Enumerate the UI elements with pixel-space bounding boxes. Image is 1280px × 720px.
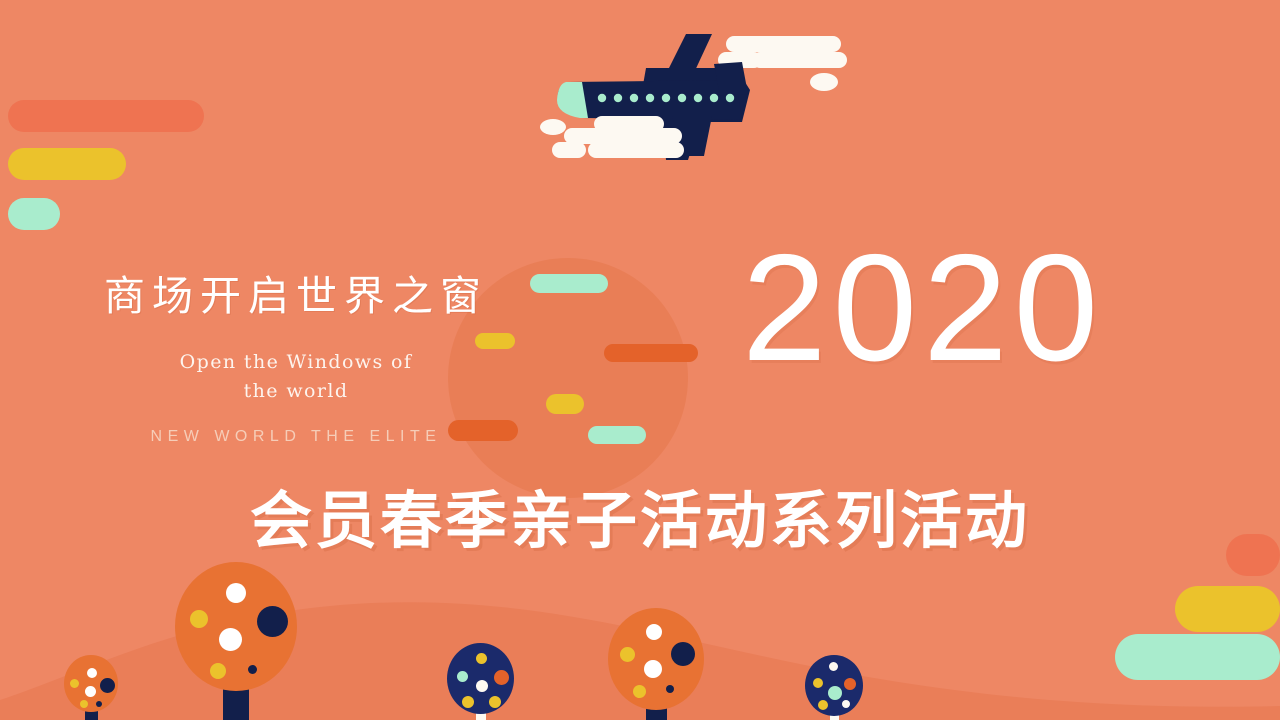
circle-pill-mint-top [530, 274, 608, 293]
tree-4-orange [608, 608, 704, 720]
tree-ornament-dot [818, 700, 828, 710]
circle-pill-mint-bottom [588, 426, 646, 444]
tree-ornament-dot [844, 678, 856, 690]
tree-ornament-dot [666, 685, 674, 693]
headline-chinese: 商场开启世界之窗 [96, 262, 496, 322]
tree-ornament-dot [829, 662, 838, 671]
tree-ornament-dot [190, 610, 208, 628]
tree-5-navy [805, 655, 863, 720]
bottom-right-pill-yellow [1175, 586, 1280, 632]
tree-ornament-dot [96, 701, 102, 707]
headline-english-line2: the world [96, 377, 496, 406]
tree-canopy [805, 655, 863, 716]
tree-ornament-dot [842, 700, 850, 708]
tree-ornament-dot [633, 685, 646, 698]
tree-ornament-dot [644, 660, 662, 678]
bottom-right-pill-mint [1115, 634, 1280, 680]
tree-ornament-dot [462, 696, 474, 708]
tree-ornament-dot [219, 628, 242, 651]
headline-block: 商场开启世界之窗 Open the Windows of the world N… [96, 262, 496, 446]
airplane-illustration [536, 24, 866, 174]
circle-pill-orange-right [604, 344, 698, 362]
year-label: 2020 [742, 232, 1104, 384]
tree-ornament-dot [646, 624, 662, 640]
cloud-lower [540, 116, 684, 158]
airplane-windows [598, 94, 734, 102]
tree-ornament-dot [813, 678, 823, 688]
headline-tagline: NEW WORLD THE ELITE [96, 428, 496, 446]
tree-ornament-dot [248, 665, 257, 674]
headline-english: Open the Windows of the world [96, 348, 496, 406]
top-left-pill-salmon [8, 100, 204, 132]
tree-ornament-dot [476, 680, 488, 692]
tree-ornament-dot [457, 671, 468, 682]
tree-ornament-dot [476, 653, 487, 664]
tree-canopy [175, 562, 297, 691]
tree-ornament-dot [85, 686, 96, 697]
tree-ornament-dot [494, 670, 509, 685]
tree-ornament-dot [828, 686, 842, 700]
tree-ornament-dot [620, 647, 635, 662]
tree-1-small-orange [64, 655, 118, 720]
tree-canopy [64, 655, 118, 712]
tree-ornament-dot [257, 606, 288, 637]
tree-ornament-dot [100, 678, 115, 693]
tree-ornament-dot [671, 642, 695, 666]
tree-ornament-dot [226, 583, 246, 603]
tree-ornament-dot [70, 679, 79, 688]
tree-ornament-dot [210, 663, 226, 679]
top-left-pill-mint [8, 198, 60, 230]
circle-pill-yellow-mid [546, 394, 584, 414]
tree-ornament-dot [87, 668, 97, 678]
tree-canopy [608, 608, 704, 710]
tree-ornament-dot [489, 696, 501, 708]
main-title: 会员春季亲子活动系列活动 [0, 470, 1280, 560]
headline-english-line1: Open the Windows of [96, 348, 496, 377]
tree-ornament-dot [80, 700, 88, 708]
tree-3-navy [447, 643, 514, 720]
tree-2-large-orange [175, 562, 297, 720]
poster-slide: 商场开启世界之窗 Open the Windows of the world N… [0, 0, 1280, 720]
top-left-pill-yellow [8, 148, 126, 180]
tree-canopy [447, 643, 514, 714]
